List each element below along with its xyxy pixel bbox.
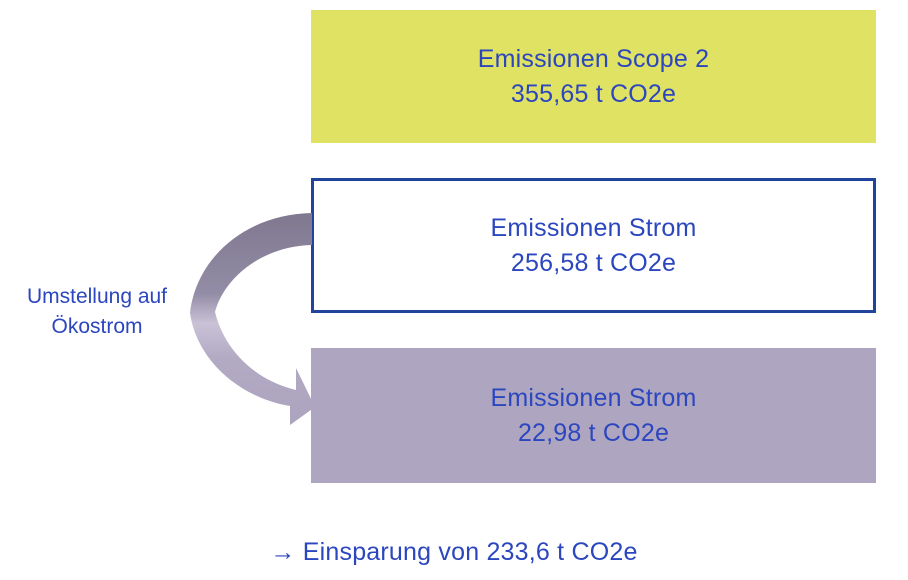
box-emissionen-strom-after: Emissionen Strom 22,98 t CO2e [311, 348, 876, 483]
box-scope2-value: 355,65 t CO2e [511, 77, 676, 112]
box-strom-after-title: Emissionen Strom [490, 381, 696, 416]
box-strom-after-value: 22,98 t CO2e [518, 416, 669, 451]
caption-umstellung-auf-oekostrom: Umstellung auf Ökostrom [6, 282, 188, 342]
box-strom-before-value: 256,58 t CO2e [511, 246, 676, 281]
caption-line-1: Umstellung auf [6, 282, 188, 312]
box-strom-before-title: Emissionen Strom [490, 211, 696, 246]
caption-line-2: Ökostrom [6, 312, 188, 342]
curved-down-arrow-icon [190, 200, 315, 425]
summary-einsparung: → Einsparung von 233,6 t CO2e [0, 538, 908, 567]
box-emissionen-strom-before: Emissionen Strom 256,58 t CO2e [311, 178, 876, 313]
box-scope2-title: Emissionen Scope 2 [478, 42, 710, 77]
box-emissionen-scope-2: Emissionen Scope 2 355,65 t CO2e [311, 10, 876, 143]
diagram-canvas: Emissionen Scope 2 355,65 t CO2e Emissio… [0, 0, 908, 580]
